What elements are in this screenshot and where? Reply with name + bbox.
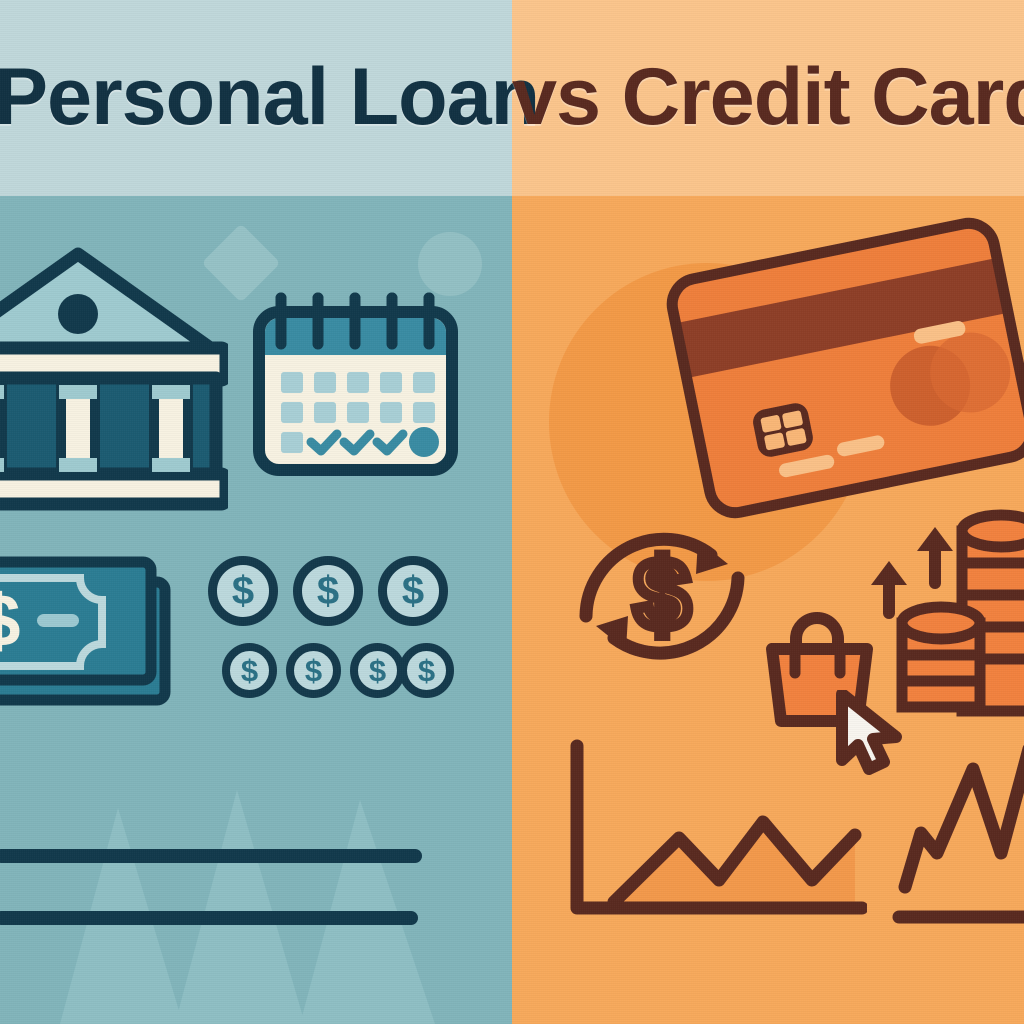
revolving-credit-icon: $ bbox=[572, 508, 752, 683]
coin: $ bbox=[293, 556, 363, 626]
right-panel-credit-card: $ bbox=[512, 0, 1024, 1024]
svg-text:$: $ bbox=[635, 539, 690, 649]
coin: $ bbox=[378, 556, 448, 626]
page-title-right: vs Credit Card bbox=[512, 57, 1024, 138]
title-right-text: Credit Card bbox=[622, 52, 1024, 142]
line-chart-secondary-icon bbox=[877, 735, 1024, 935]
left-panel-personal-loan: $ $ $ $ $ $ $ $ bbox=[0, 0, 512, 1024]
title-connector: vs bbox=[512, 52, 600, 142]
credit-card-icon bbox=[660, 212, 1024, 525]
coin: $ bbox=[222, 643, 277, 698]
coin: $ bbox=[399, 643, 454, 698]
coin: $ bbox=[350, 643, 405, 698]
svg-text:$: $ bbox=[0, 579, 21, 662]
coin: $ bbox=[208, 556, 278, 626]
infographic-canvas: $ $ $ $ $ $ $ $ bbox=[0, 0, 1024, 1024]
page-title-left: Personal Loan bbox=[0, 57, 539, 138]
placeholder-bar-2 bbox=[0, 911, 418, 925]
line-chart-icon bbox=[567, 730, 867, 935]
placeholder-bar-1 bbox=[0, 849, 422, 863]
coin: $ bbox=[286, 643, 341, 698]
bank-building-icon bbox=[0, 242, 228, 517]
mountain-shapes bbox=[0, 724, 512, 1024]
circle-shape bbox=[418, 232, 482, 296]
banknote-stack-icon: $ bbox=[0, 552, 187, 712]
calendar-icon bbox=[253, 292, 458, 477]
coin-stacks-icon bbox=[867, 505, 1024, 720]
